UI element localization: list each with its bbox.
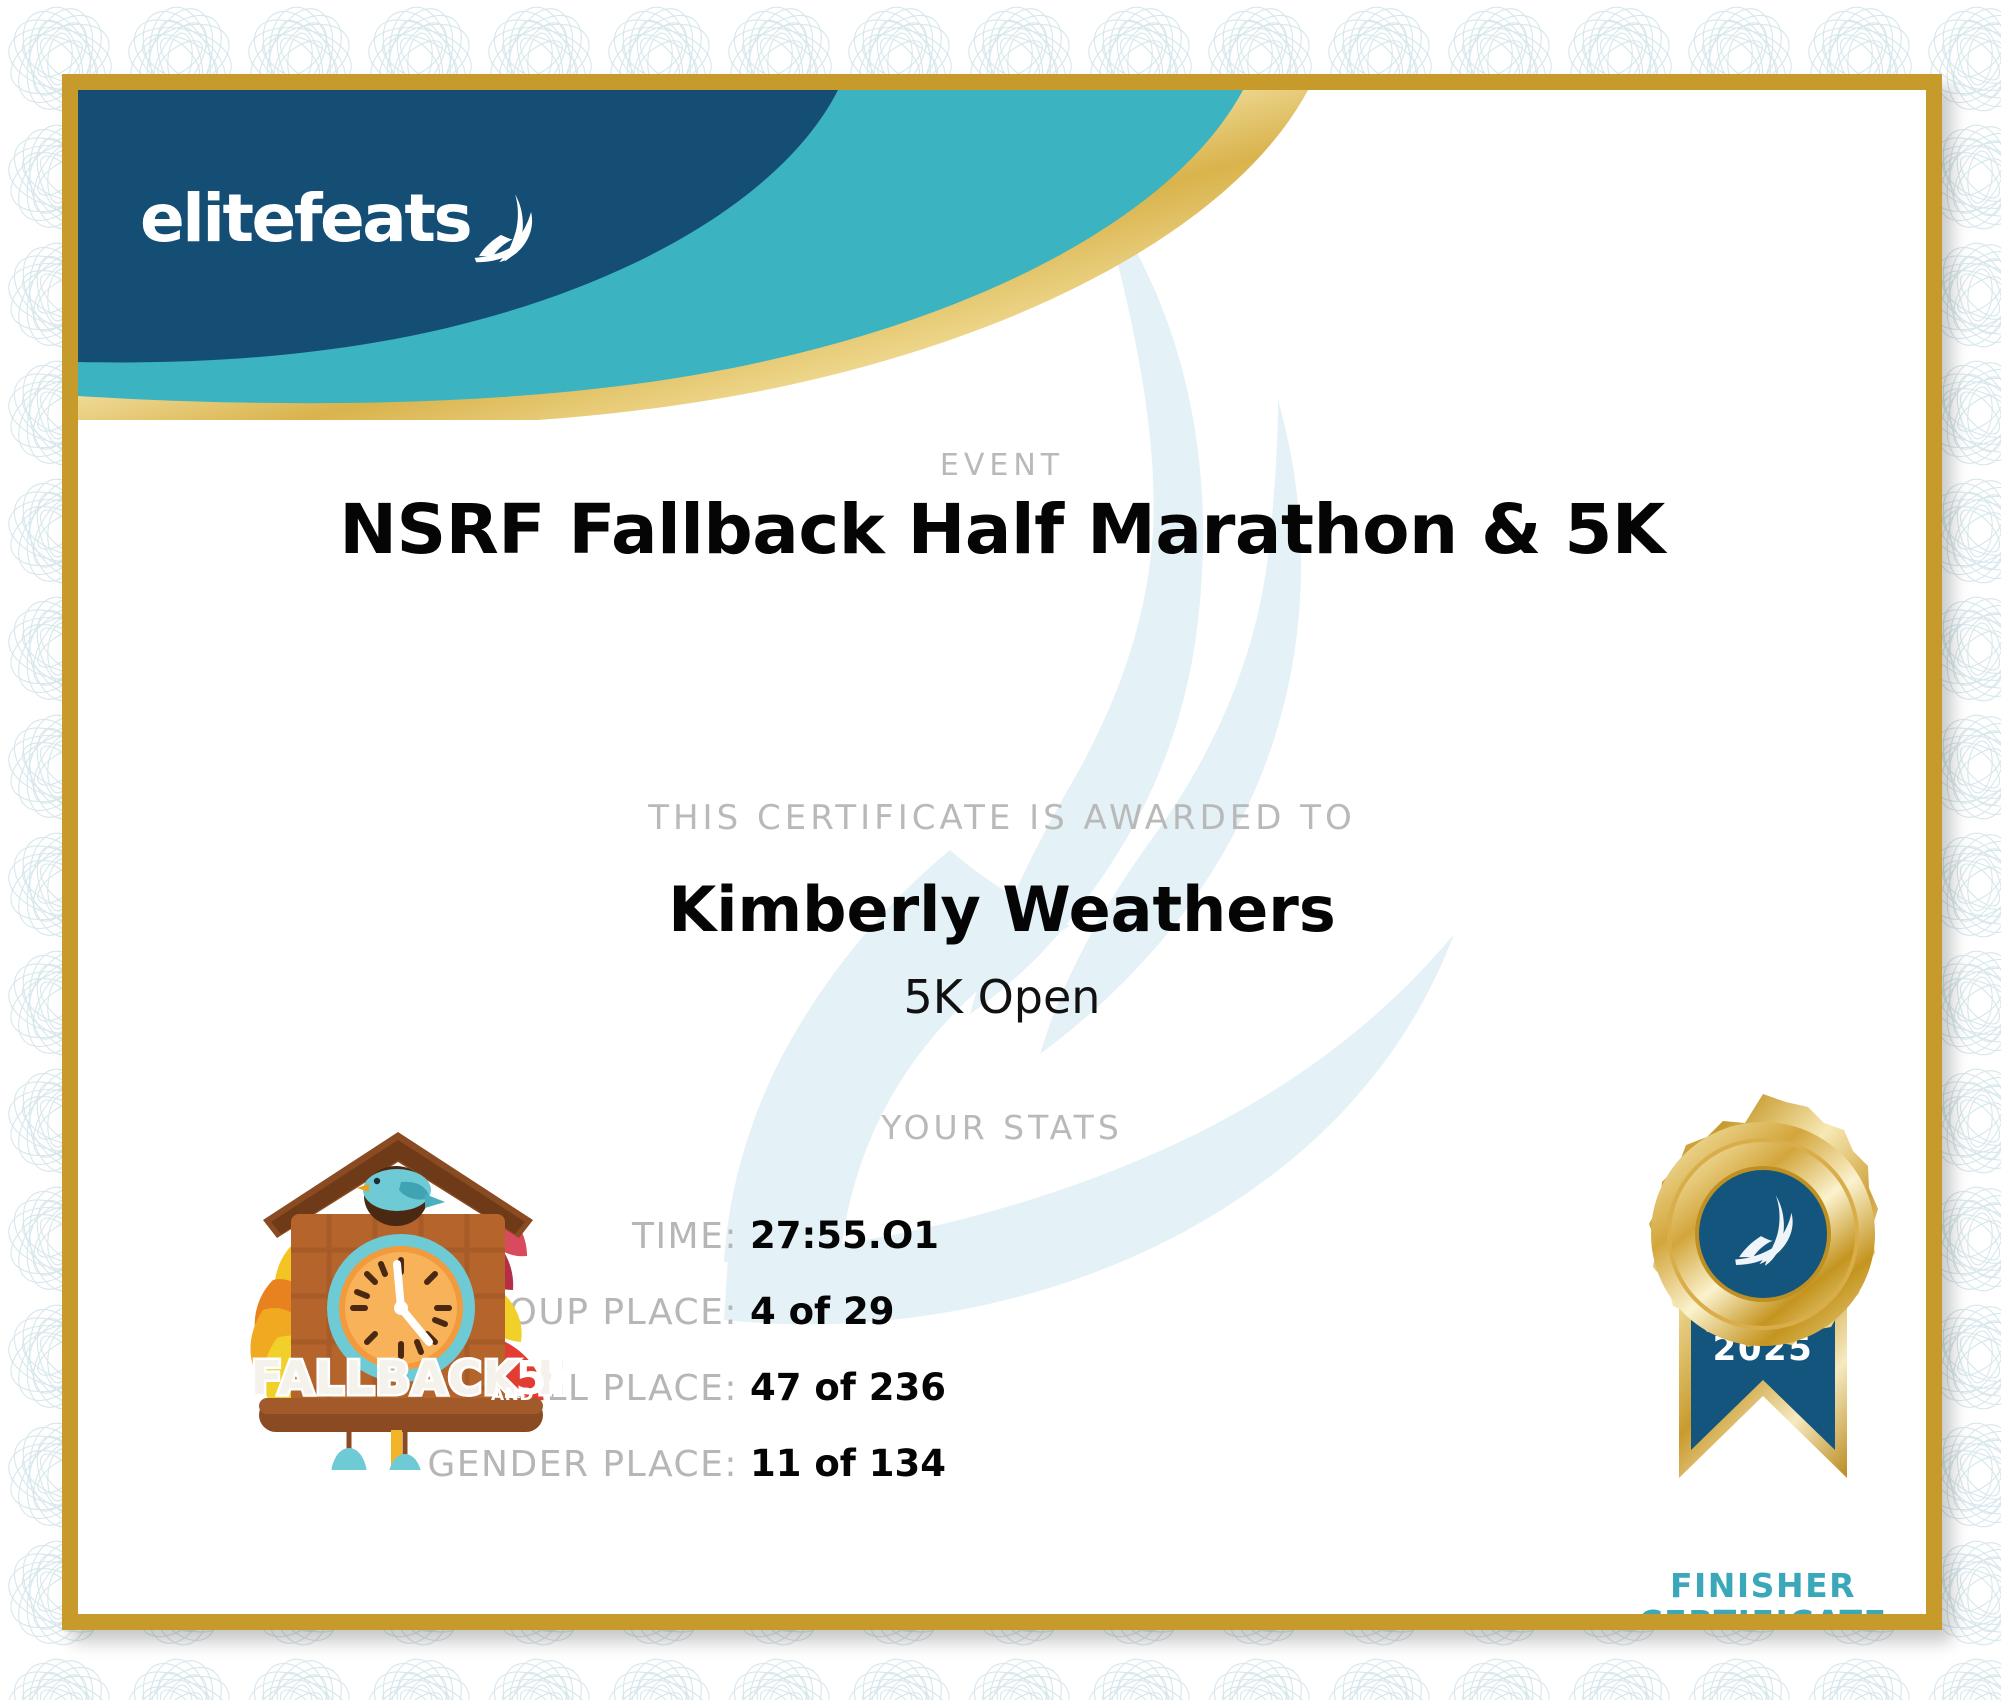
certificate-content: EVENT NSRF Fallback Half Marathon & 5K T… — [78, 90, 1926, 1614]
recipient-division: 5K Open — [78, 970, 1926, 1024]
event-title: NSRF Fallback Half Marathon & 5K — [78, 490, 1926, 570]
recipient-name: Kimberly Weathers — [78, 873, 1926, 946]
event-kicker-label: EVENT — [78, 448, 1926, 483]
stat-value: 11 of 134 — [738, 1442, 1288, 1485]
awarded-to-label: THIS CERTIFICATE IS AWARDED TO — [78, 798, 1926, 838]
stat-value: 27:55.O1 — [738, 1214, 1288, 1257]
badge-caption-line2: CERTIFICATE — [1583, 1605, 1926, 1614]
svg-text:5K: 5K — [515, 1351, 563, 1405]
badge-caption-line1: FINISHER — [1583, 1568, 1926, 1605]
stat-value: 47 of 236 — [738, 1366, 1288, 1409]
certificate-body: elitefeats EVENT NSRF Fallback Half Mara… — [78, 90, 1926, 1614]
stat-value: 4 of 29 — [738, 1290, 1288, 1333]
race-logo-lettering: FALLBACK HM FALLBACK HM AND 5K — [251, 1351, 563, 1405]
certificate-gold-frame: elitefeats EVENT NSRF Fallback Half Mara… — [62, 74, 1942, 1630]
finisher-badge: 2025 — [1583, 1078, 1926, 1498]
fallback-cuckoo-clock-logo: FALLBACK HM FALLBACK HM AND 5K — [233, 1110, 563, 1470]
badge-caption: FINISHER CERTIFICATE — [1583, 1568, 1926, 1614]
